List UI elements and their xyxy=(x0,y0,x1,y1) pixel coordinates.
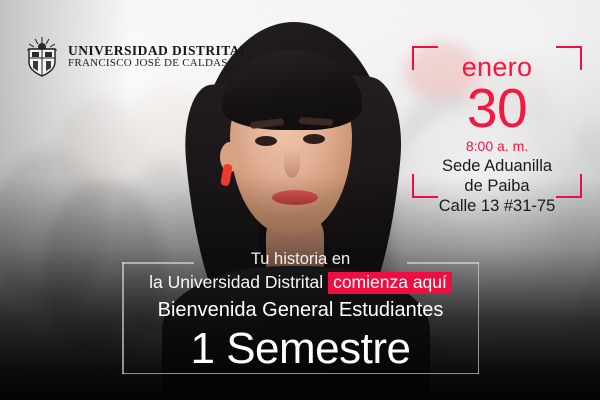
headline-highlight: comienza aquí xyxy=(328,272,452,294)
headline-line-2-text: la Universidad Distrital xyxy=(149,272,323,292)
headline-line-3: Bienvenida General Estudiantes xyxy=(122,296,479,324)
event-day: 30 xyxy=(412,82,582,134)
event-poster: UNIVERSIDAD DISTRITAL FRANCISCO JOSÉ DE … xyxy=(0,0,600,400)
university-logo: UNIVERSIDAD DISTRITAL FRANCISCO JOSÉ DE … xyxy=(24,36,249,78)
headline-block: Tu historia en la Universidad Distrital … xyxy=(122,262,479,374)
logo-line-1: UNIVERSIDAD DISTRITAL xyxy=(68,44,249,58)
venue-line-3: Calle 13 #31-75 xyxy=(412,196,582,216)
date-venue-card: enero 30 8:00 a. m. Sede Aduanilla de Pa… xyxy=(412,46,582,198)
university-crest-icon xyxy=(24,36,60,78)
headline-line-4: 1 Semestre xyxy=(122,324,479,374)
venue-line-1: Sede Aduanilla xyxy=(412,156,582,176)
logo-line-2: FRANCISCO JOSÉ DE CALDAS xyxy=(68,58,249,70)
headline-line-2: la Universidad Distrital comienza aquí xyxy=(122,270,479,294)
headline-line-1: Tu historia en xyxy=(122,248,479,270)
venue-line-2: de Paiba xyxy=(412,176,582,196)
event-time: 8:00 a. m. xyxy=(412,137,582,156)
